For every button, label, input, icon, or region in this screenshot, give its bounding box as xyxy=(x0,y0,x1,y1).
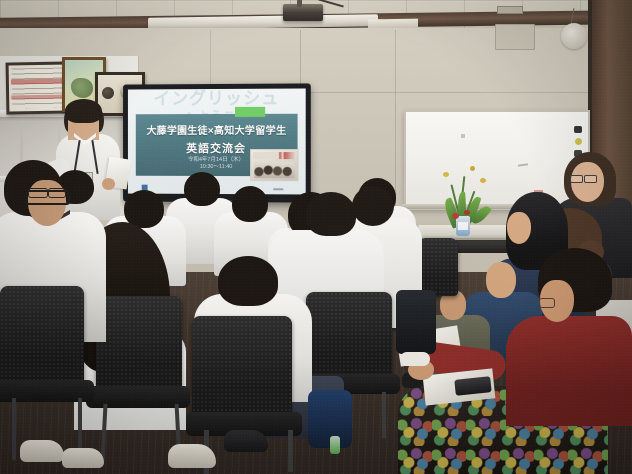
eyeglasses-icon xyxy=(48,188,66,198)
water-bottle xyxy=(330,436,340,454)
student-head xyxy=(232,186,268,222)
vase-label xyxy=(458,222,468,230)
chair-leg xyxy=(12,398,16,460)
student-head xyxy=(352,186,394,226)
wall-vent-panel xyxy=(495,24,535,50)
thumbnail-banner xyxy=(253,152,295,159)
student-head xyxy=(306,192,356,236)
chair-back xyxy=(192,316,292,420)
guest-face xyxy=(507,212,531,244)
presenter-hand xyxy=(102,178,115,190)
whiteboard-marking xyxy=(518,163,528,166)
flower-bloom xyxy=(443,172,449,177)
chair-back xyxy=(0,286,84,386)
flower-bloom xyxy=(470,166,475,171)
eyeglasses-icon xyxy=(570,175,583,183)
chair-leg xyxy=(288,430,293,472)
ceiling-projector xyxy=(283,4,323,21)
slide-green-accent xyxy=(235,107,265,117)
flower-bloom xyxy=(452,213,459,219)
certificate-stripe xyxy=(11,79,67,85)
certificate-text-lines xyxy=(12,68,67,109)
chair-back xyxy=(306,292,392,380)
slide-corner-marker xyxy=(273,188,283,190)
whiteboard-magnet xyxy=(575,138,582,145)
thumbnail-people xyxy=(254,162,294,178)
whiteboard-magnet xyxy=(574,126,582,133)
flower-bloom xyxy=(480,178,486,183)
flower-bloom xyxy=(464,210,470,215)
slide-title-line-1: 大藤学園生徒×高知大学留学生 xyxy=(128,122,306,137)
slide-date-line-1: 令和4年7月14日（木） xyxy=(188,157,244,163)
presenter-hair xyxy=(65,99,102,123)
sports-bag xyxy=(396,290,436,354)
dress-shoe xyxy=(224,430,268,452)
eyeglasses-icon xyxy=(584,175,597,183)
sneaker xyxy=(20,440,64,462)
photograph-scene: イングリッシュ へようこそ 大藤学園生徒×高知大学留学生 英語交流会 令和4年7… xyxy=(0,0,632,474)
student-head xyxy=(184,172,220,206)
chair-leg xyxy=(382,392,386,438)
artwork-motif xyxy=(71,78,93,98)
ceiling-light-fixture-secondary xyxy=(368,19,418,29)
chair-back xyxy=(96,296,182,392)
international-guest-head xyxy=(486,262,516,298)
student-head xyxy=(218,256,278,306)
eyeglasses-icon xyxy=(28,188,48,198)
sneaker xyxy=(400,352,430,366)
whiteboard-marking xyxy=(461,134,465,138)
whiteboard xyxy=(404,110,590,210)
sneaker xyxy=(62,448,104,468)
guest-red-top xyxy=(506,316,632,426)
chair-back xyxy=(418,238,458,296)
wall-speaker xyxy=(561,23,587,49)
ceiling-vent xyxy=(497,6,523,14)
plaque-medal xyxy=(102,87,114,99)
slide-photo-thumbnail xyxy=(250,149,299,181)
eyeglasses-icon xyxy=(539,298,555,308)
slide-watermark-line-1: イングリッシュ xyxy=(128,91,306,107)
projector-mount xyxy=(297,0,302,7)
sneaker xyxy=(168,444,216,468)
slide-date-line-2: 10:30〜11:40 xyxy=(200,164,233,170)
